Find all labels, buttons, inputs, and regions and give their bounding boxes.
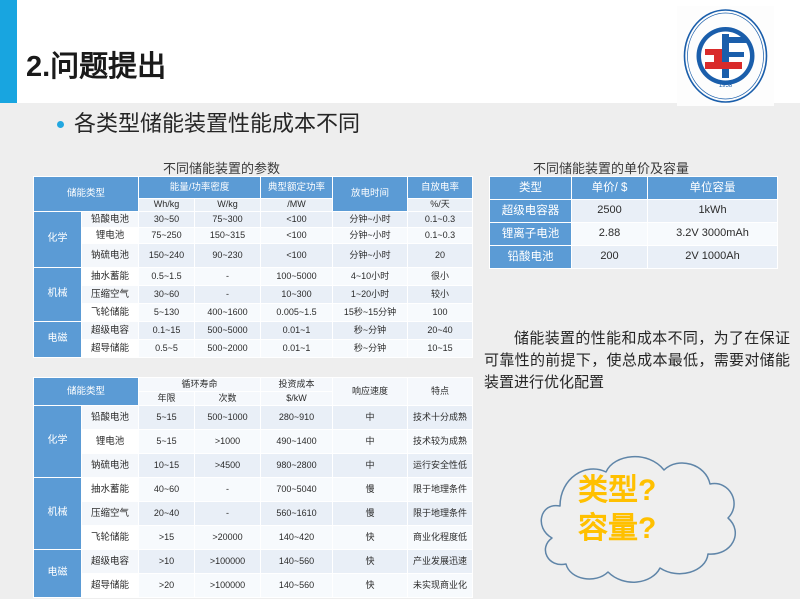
cell-speed: 快 bbox=[333, 550, 408, 574]
cell-discharge: 分钟~小时 bbox=[333, 244, 408, 268]
cell-years: >10 bbox=[139, 550, 195, 574]
th-unit-years: 年限 bbox=[139, 392, 195, 406]
row-name: 超导储能 bbox=[82, 340, 139, 358]
price-table: 类型 单价/ $ 单位容量 超级电容器 2500 1kWh 锂离子电池 2.88… bbox=[489, 176, 778, 269]
bullet-row: 各类型储能装置性能成本不同 bbox=[57, 111, 360, 137]
logo-emblem-icon: 1958 bbox=[678, 7, 773, 105]
row-name: 铅酸电池 bbox=[82, 212, 139, 228]
cell-cost: 140~420 bbox=[261, 526, 333, 550]
cell-wh-kg: 150~240 bbox=[139, 244, 195, 268]
cell-cycles: - bbox=[195, 502, 261, 526]
cell-w-kg: 500~5000 bbox=[195, 322, 261, 340]
th-cycle-life: 循环寿命 bbox=[139, 378, 261, 392]
row-name: 压缩空气 bbox=[82, 286, 139, 304]
cell-speed: 中 bbox=[333, 406, 408, 430]
cell-discharge: 1~20小时 bbox=[333, 286, 408, 304]
th-features: 特点 bbox=[408, 378, 473, 406]
table-row: 压缩空气 20~40 - 560~1610 慢 限于地理条件 bbox=[34, 502, 473, 526]
cell-years: 5~15 bbox=[139, 430, 195, 454]
cell-cost: 490~1400 bbox=[261, 430, 333, 454]
params-table: 储能类型 能量/功率密度 典型额定功率 放电时间 自放电率 Wh/kg W/kg… bbox=[33, 176, 473, 358]
slide-root: 2.问题提出 各类型储能装置性能成本不同 1958 不同储能装置的参数 不同储能… bbox=[0, 0, 800, 599]
cell-years: >15 bbox=[139, 526, 195, 550]
table-row: 超导储能 >20 >100000 140~560 快 未实现商业化 bbox=[34, 574, 473, 598]
table-header-row: 类型 单价/ $ 单位容量 bbox=[490, 177, 778, 200]
cloud-callout: 类型? 容量? bbox=[500, 444, 790, 594]
cell-type: 铅酸电池 bbox=[490, 246, 572, 269]
cell-cycles: >100000 bbox=[195, 550, 261, 574]
bullet-label: 各类型储能装置性能成本不同 bbox=[74, 111, 360, 137]
category-cell: 电磁 bbox=[34, 550, 82, 598]
cell-cycles: - bbox=[195, 478, 261, 502]
cell-discharge: 15秒~15分钟 bbox=[333, 304, 408, 322]
cell-speed: 快 bbox=[333, 574, 408, 598]
cell-w-kg: - bbox=[195, 286, 261, 304]
cell-w-kg: 500~2000 bbox=[195, 340, 261, 358]
cell-wh-kg: 0.1~15 bbox=[139, 322, 195, 340]
th-rated-power: 典型额定功率 bbox=[261, 177, 333, 199]
th-response-speed: 响应速度 bbox=[333, 378, 408, 406]
cell-cost: 140~560 bbox=[261, 550, 333, 574]
table-header-row: 储能类型 能量/功率密度 典型额定功率 放电时间 自放电率 bbox=[34, 177, 473, 199]
table-row: 锂电池 5~15 >1000 490~1400 中 技术较为成熟 bbox=[34, 430, 473, 454]
cell-cycles: >100000 bbox=[195, 574, 261, 598]
params-table-caption: 不同储能装置的参数 bbox=[163, 158, 280, 177]
row-name: 钠硫电池 bbox=[82, 454, 139, 478]
table-row: 机械 抽水蓄能 0.5~1.5 - 100~5000 4~10小时 很小 bbox=[34, 268, 473, 286]
table-row: 化学 铅酸电池 30~50 75~300 <100 分钟~小时 0.1~0.3 bbox=[34, 212, 473, 228]
table-row: 机械 抽水蓄能 40~60 - 700~5040 慢 限于地理条件 bbox=[34, 478, 473, 502]
cell-years: 40~60 bbox=[139, 478, 195, 502]
cell-mw: 0.005~1.5 bbox=[261, 304, 333, 322]
th-type: 类型 bbox=[490, 177, 572, 200]
table-row: 锂离子电池 2.88 3.2V 3000mAh bbox=[490, 223, 778, 246]
cell-feature: 技术较为成熟 bbox=[408, 430, 473, 454]
table-row: 铅酸电池 200 2V 1000Ah bbox=[490, 246, 778, 269]
table-row: 锂电池 75~250 150~315 <100 分钟~小时 0.1~0.3 bbox=[34, 228, 473, 244]
row-name: 飞轮储能 bbox=[82, 304, 139, 322]
table-row: 飞轮储能 >15 >20000 140~420 快 商业化程度低 bbox=[34, 526, 473, 550]
row-name: 钠硫电池 bbox=[82, 244, 139, 268]
cell-years: >20 bbox=[139, 574, 195, 598]
table-row: 电磁 超级电容 >10 >100000 140~560 快 产业发展迅速 bbox=[34, 550, 473, 574]
cell-years: 20~40 bbox=[139, 502, 195, 526]
cell-mw: <100 bbox=[261, 228, 333, 244]
th-unit-wh-kg: Wh/kg bbox=[139, 199, 195, 212]
note-paragraph: 储能装置的性能和成本不同，为了在保证可靠性的前提下，使总成本最低，需要对储能装置… bbox=[484, 328, 790, 393]
row-name: 飞轮储能 bbox=[82, 526, 139, 550]
cell-w-kg: - bbox=[195, 268, 261, 286]
row-name: 超级电容 bbox=[82, 550, 139, 574]
cloud-line-2: 容量? bbox=[578, 510, 656, 548]
th-self-discharge: 自放电率 bbox=[408, 177, 473, 199]
table-row: 钠硫电池 150~240 90~230 <100 分钟~小时 20 bbox=[34, 244, 473, 268]
bullet-dot-icon bbox=[57, 121, 64, 128]
category-cell: 电磁 bbox=[34, 322, 82, 358]
cell-discharge: 秒~分钟 bbox=[333, 322, 408, 340]
cell-years: 5~15 bbox=[139, 406, 195, 430]
cell-mw: 10~300 bbox=[261, 286, 333, 304]
category-cell: 机械 bbox=[34, 268, 82, 322]
cell-mw: 0.01~1 bbox=[261, 340, 333, 358]
cost-table: 储能类型 循环寿命 投资成本 响应速度 特点 年限 次数 $/kW 化学 铅酸电… bbox=[33, 377, 473, 598]
cell-wh-kg: 0.5~5 bbox=[139, 340, 195, 358]
th-unit-capacity: 单位容量 bbox=[648, 177, 778, 200]
table-header-row: 储能类型 循环寿命 投资成本 响应速度 特点 bbox=[34, 378, 473, 392]
table-row: 超级电容器 2500 1kWh bbox=[490, 200, 778, 223]
cell-type: 超级电容器 bbox=[490, 200, 572, 223]
cell-cost: 980~2800 bbox=[261, 454, 333, 478]
price-table-caption: 不同储能装置的单价及容量 bbox=[533, 158, 689, 177]
cell-wh-kg: 75~250 bbox=[139, 228, 195, 244]
cell-feature: 限于地理条件 bbox=[408, 502, 473, 526]
row-name: 超级电容 bbox=[82, 322, 139, 340]
table-row: 化学 铅酸电池 5~15 500~1000 280~910 中 技术十分成熟 bbox=[34, 406, 473, 430]
th-unit-cycles: 次数 bbox=[195, 392, 261, 406]
th-discharge-time: 放电时间 bbox=[333, 177, 408, 212]
cell-mw: <100 bbox=[261, 212, 333, 228]
cell-selfdischarge: 100 bbox=[408, 304, 473, 322]
th-unit-percent-day: %/天 bbox=[408, 199, 473, 212]
th-unit-mw: /MW bbox=[261, 199, 333, 212]
cell-price: 2500 bbox=[572, 200, 648, 223]
row-name: 铅酸电池 bbox=[82, 406, 139, 430]
cell-years: 10~15 bbox=[139, 454, 195, 478]
cell-cost: 140~560 bbox=[261, 574, 333, 598]
th-storage-type: 储能类型 bbox=[34, 378, 139, 406]
row-name: 抽水蓄能 bbox=[82, 478, 139, 502]
th-unit-dollar-kw: $/kW bbox=[261, 392, 333, 406]
cell-discharge: 4~10小时 bbox=[333, 268, 408, 286]
th-storage-type: 储能类型 bbox=[34, 177, 139, 212]
cell-mw: <100 bbox=[261, 244, 333, 268]
cell-selfdischarge: 较小 bbox=[408, 286, 473, 304]
university-logo: 1958 bbox=[677, 6, 774, 106]
cell-selfdischarge: 0.1~0.3 bbox=[408, 212, 473, 228]
cell-price: 2.88 bbox=[572, 223, 648, 246]
cell-cost: 560~1610 bbox=[261, 502, 333, 526]
cell-wh-kg: 0.5~1.5 bbox=[139, 268, 195, 286]
row-name: 压缩空气 bbox=[82, 502, 139, 526]
row-name: 锂电池 bbox=[82, 228, 139, 244]
cell-capacity: 1kWh bbox=[648, 200, 778, 223]
table-row: 飞轮储能 5~130 400~1600 0.005~1.5 15秒~15分钟 1… bbox=[34, 304, 473, 322]
category-cell: 化学 bbox=[34, 212, 82, 268]
table-row: 钠硫电池 10~15 >4500 980~2800 中 运行安全性低 bbox=[34, 454, 473, 478]
cell-speed: 慢 bbox=[333, 478, 408, 502]
cell-mw: 100~5000 bbox=[261, 268, 333, 286]
cell-discharge: 分钟~小时 bbox=[333, 228, 408, 244]
cell-selfdischarge: 0.1~0.3 bbox=[408, 228, 473, 244]
cell-speed: 中 bbox=[333, 454, 408, 478]
cell-capacity: 2V 1000Ah bbox=[648, 246, 778, 269]
cell-feature: 商业化程度低 bbox=[408, 526, 473, 550]
cell-selfdischarge: 很小 bbox=[408, 268, 473, 286]
cell-capacity: 3.2V 3000mAh bbox=[648, 223, 778, 246]
page-title: 2.问题提出 bbox=[26, 53, 166, 82]
cell-speed: 中 bbox=[333, 430, 408, 454]
cell-cycles: 500~1000 bbox=[195, 406, 261, 430]
cell-feature: 产业发展迅速 bbox=[408, 550, 473, 574]
cell-feature: 技术十分成熟 bbox=[408, 406, 473, 430]
cell-mw: 0.01~1 bbox=[261, 322, 333, 340]
cell-discharge: 秒~分钟 bbox=[333, 340, 408, 358]
cell-cycles: >1000 bbox=[195, 430, 261, 454]
cell-feature: 限于地理条件 bbox=[408, 478, 473, 502]
cell-speed: 快 bbox=[333, 526, 408, 550]
table-row: 电磁 超级电容 0.1~15 500~5000 0.01~1 秒~分钟 20~4… bbox=[34, 322, 473, 340]
th-investment-cost: 投资成本 bbox=[261, 378, 333, 392]
row-name: 超导储能 bbox=[82, 574, 139, 598]
cell-selfdischarge: 10~15 bbox=[408, 340, 473, 358]
cloud-line-1: 类型? bbox=[578, 472, 656, 510]
cell-discharge: 分钟~小时 bbox=[333, 212, 408, 228]
th-energy-power-density: 能量/功率密度 bbox=[139, 177, 261, 199]
cell-w-kg: 150~315 bbox=[195, 228, 261, 244]
cell-w-kg: 400~1600 bbox=[195, 304, 261, 322]
cell-cycles: >4500 bbox=[195, 454, 261, 478]
svg-text:1958: 1958 bbox=[719, 83, 733, 89]
row-name: 抽水蓄能 bbox=[82, 268, 139, 286]
row-name: 锂电池 bbox=[82, 430, 139, 454]
table-row: 超导储能 0.5~5 500~2000 0.01~1 秒~分钟 10~15 bbox=[34, 340, 473, 358]
cell-feature: 运行安全性低 bbox=[408, 454, 473, 478]
th-unit-price: 单价/ $ bbox=[572, 177, 648, 200]
cell-cost: 700~5040 bbox=[261, 478, 333, 502]
table-row: 压缩空气 30~60 - 10~300 1~20小时 较小 bbox=[34, 286, 473, 304]
cell-type: 锂离子电池 bbox=[490, 223, 572, 246]
cell-w-kg: 75~300 bbox=[195, 212, 261, 228]
cell-price: 200 bbox=[572, 246, 648, 269]
cell-feature: 未实现商业化 bbox=[408, 574, 473, 598]
cell-wh-kg: 30~50 bbox=[139, 212, 195, 228]
th-unit-w-kg: W/kg bbox=[195, 199, 261, 212]
cell-wh-kg: 5~130 bbox=[139, 304, 195, 322]
cell-wh-kg: 30~60 bbox=[139, 286, 195, 304]
left-accent-bar bbox=[0, 0, 17, 103]
cell-cycles: >20000 bbox=[195, 526, 261, 550]
cell-cost: 280~910 bbox=[261, 406, 333, 430]
category-cell: 化学 bbox=[34, 406, 82, 478]
cell-selfdischarge: 20~40 bbox=[408, 322, 473, 340]
cell-speed: 慢 bbox=[333, 502, 408, 526]
cloud-text-block: 类型? 容量? bbox=[578, 472, 656, 549]
cell-w-kg: 90~230 bbox=[195, 244, 261, 268]
cell-selfdischarge: 20 bbox=[408, 244, 473, 268]
category-cell: 机械 bbox=[34, 478, 82, 550]
